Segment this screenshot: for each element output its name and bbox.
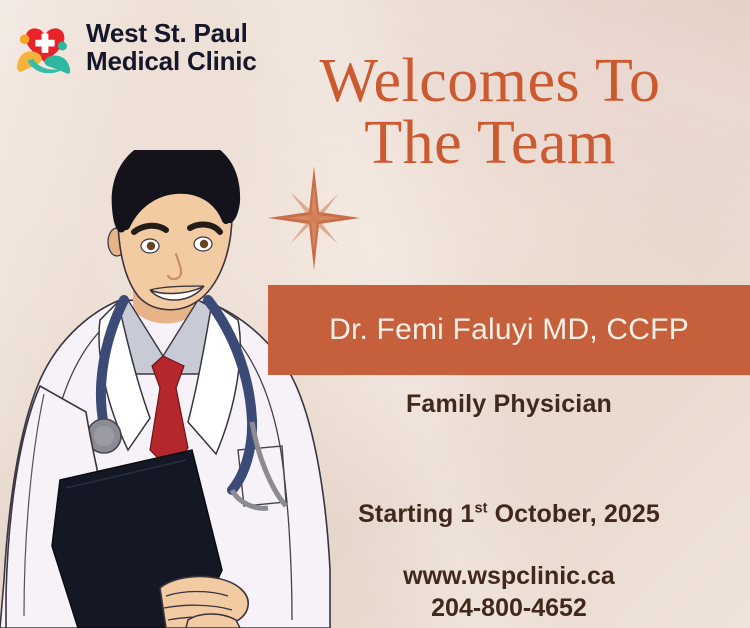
- doctor-role-text: Family Physician: [268, 390, 750, 419]
- start-date-ordinal-suffix: st: [474, 501, 487, 517]
- clinic-website-text[interactable]: www.wspclinic.ca: [268, 562, 750, 591]
- start-date-rest: October, 2025: [488, 500, 660, 528]
- clinic-phone-text[interactable]: 204-800-4652: [268, 594, 750, 623]
- start-date-text: Starting 1st October, 2025: [268, 500, 750, 529]
- doctor-name-text: Dr. Femi Faluyi MD, CCFP: [329, 313, 689, 347]
- headline: Welcomes To The Team: [255, 52, 725, 173]
- headline-line-1: Welcomes To: [255, 52, 725, 112]
- heart-cross-people-logo-icon: [14, 16, 76, 78]
- poster-canvas: West St. Paul Medical Clinic Welcomes To…: [0, 0, 750, 628]
- clinic-logo: West St. Paul Medical Clinic: [14, 16, 257, 78]
- clinic-name-text: West St. Paul Medical Clinic: [86, 19, 257, 75]
- four-point-star-sparkle-icon: [268, 166, 360, 270]
- doctor-name-banner: Dr. Femi Faluyi MD, CCFP: [268, 285, 750, 375]
- start-date-prefix: Starting 1: [358, 500, 474, 528]
- headline-line-2: The Team: [255, 114, 725, 174]
